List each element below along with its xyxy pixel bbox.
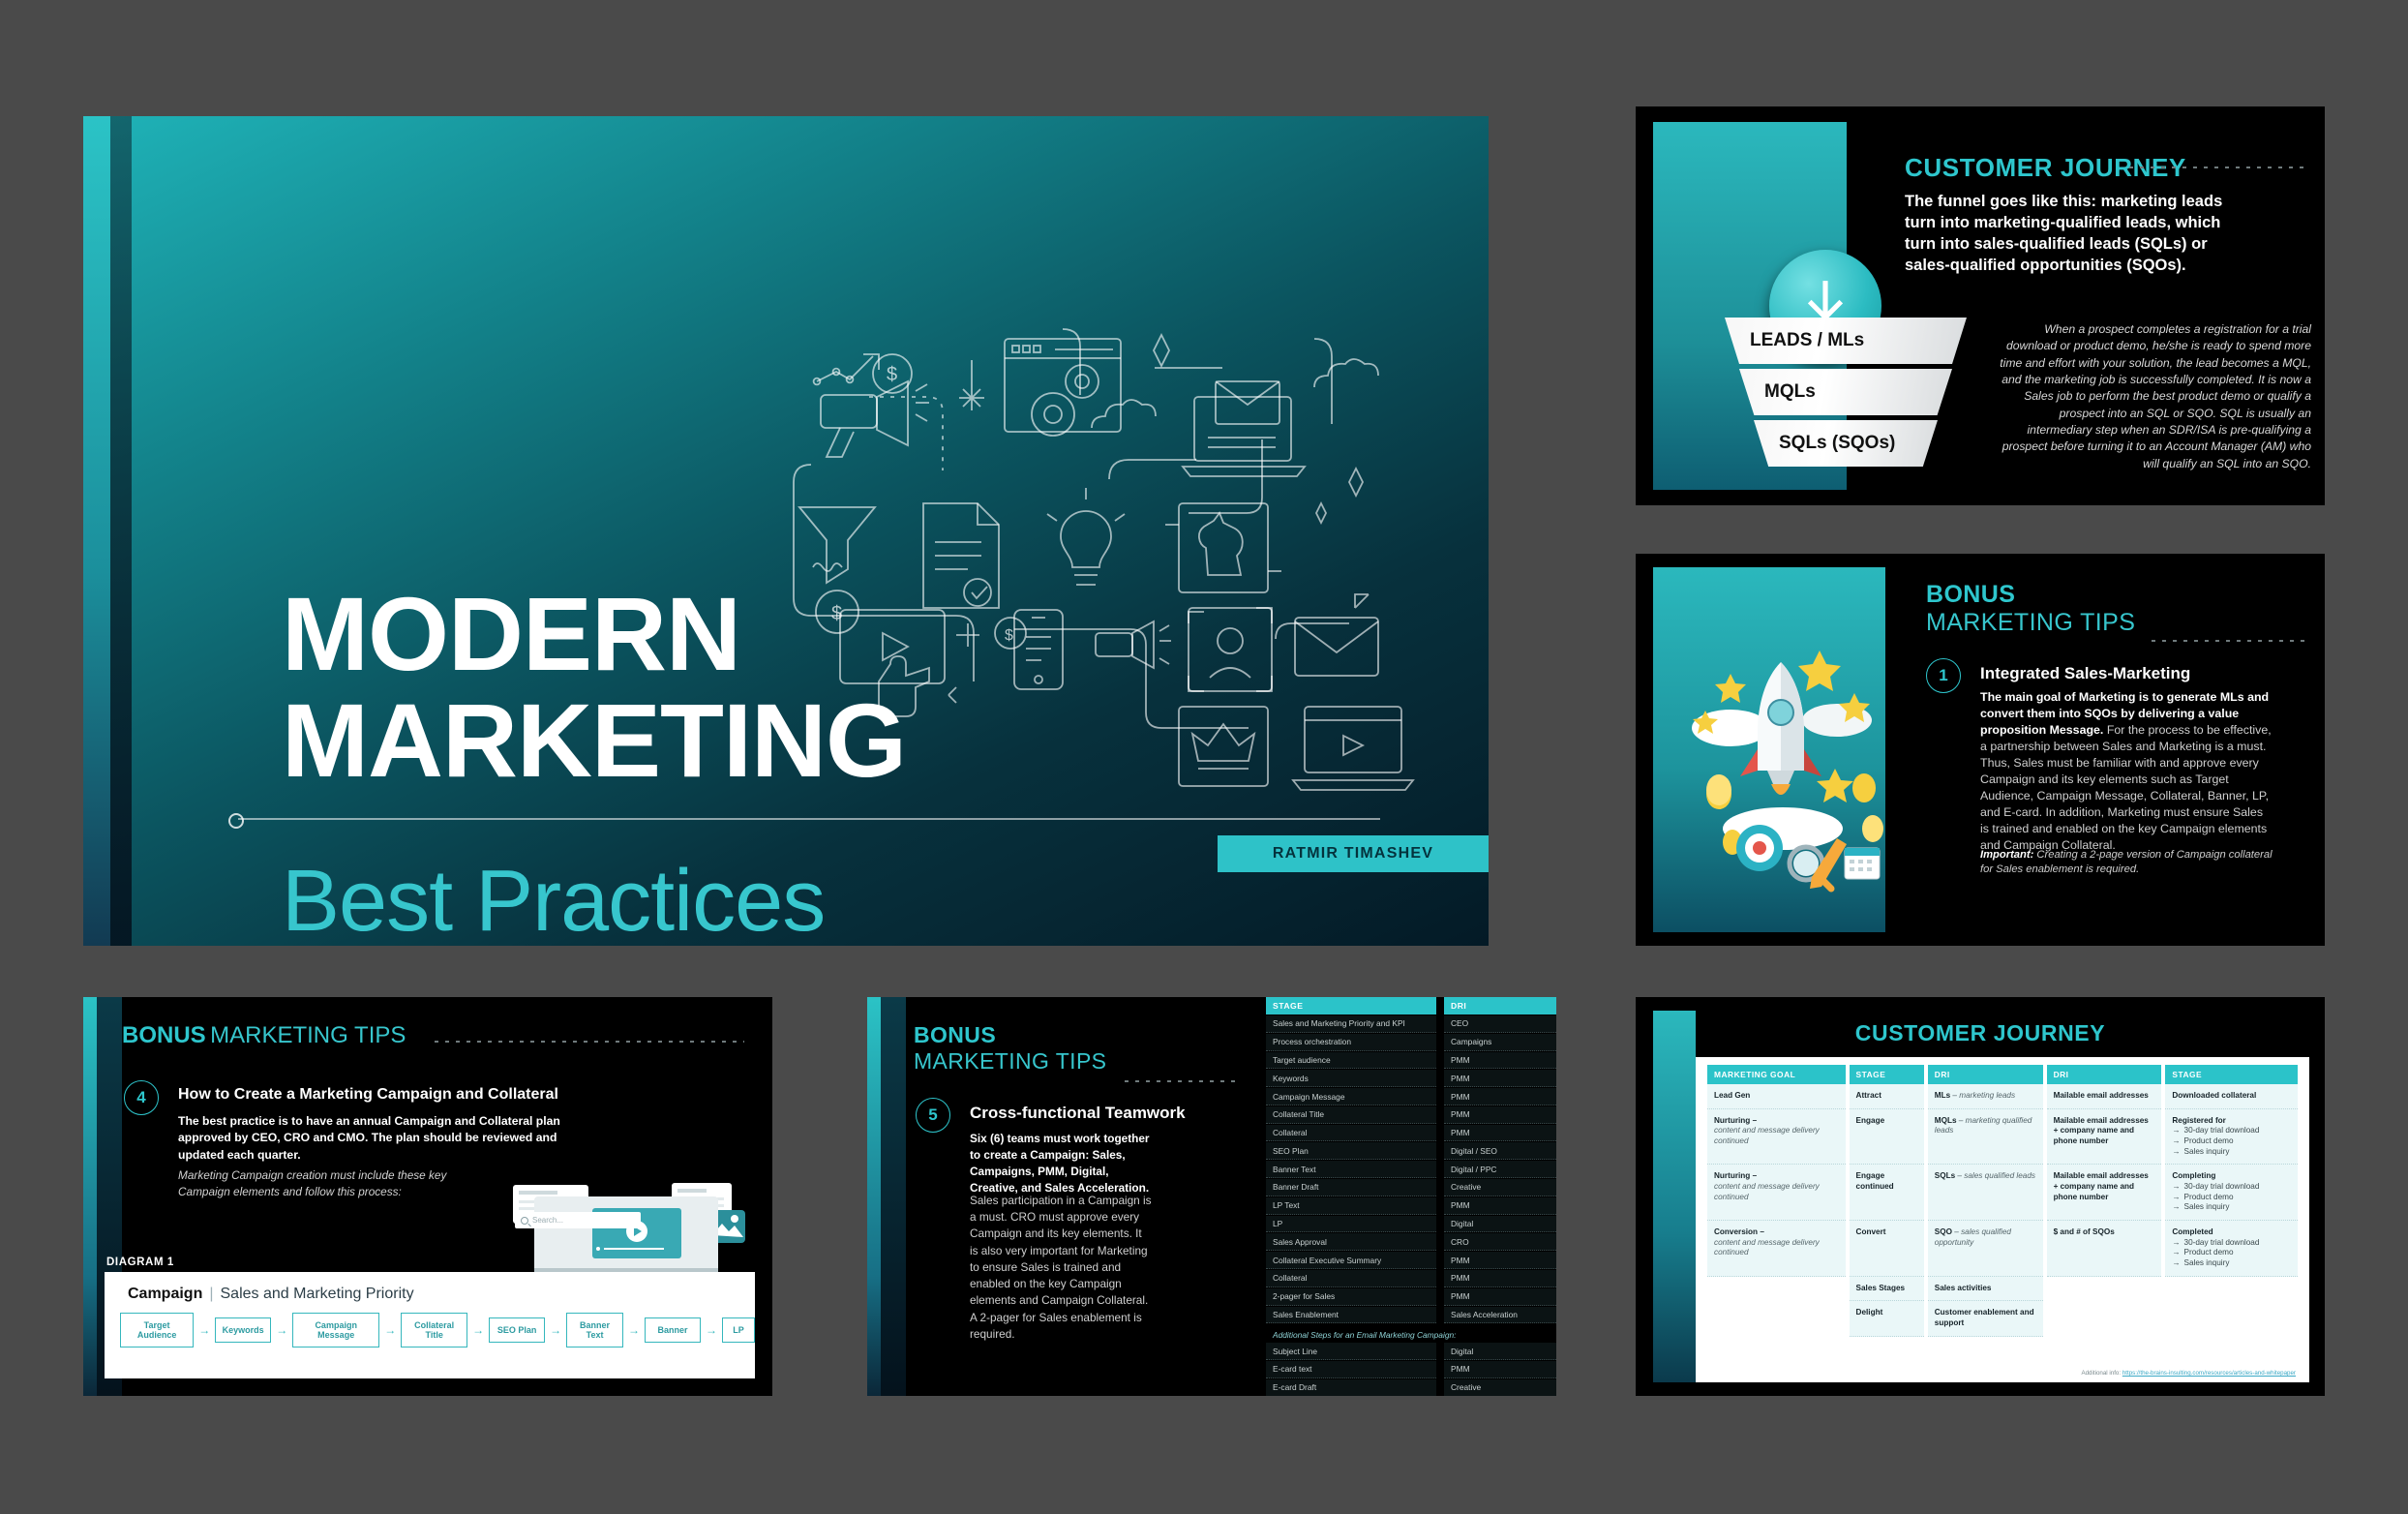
source-note: Additional info: https://the-brains-insu… [2081,1370,2296,1377]
source-link[interactable]: https://the-brains-insulting.com/resourc… [2122,1370,2296,1377]
cell-stage: SEO Plan [1266,1142,1436,1160]
bonus-subheading: MARKETING TIPS [210,1022,406,1048]
table-row: Lead GenAttractMLs – marketing leadsMail… [1707,1084,2298,1109]
table-header-row: MARKETING GOALSTAGEDRIDRISTAGE [1707,1065,2298,1084]
table-row: Nurturing –content and message delivery … [1707,1109,2298,1166]
flow-step: Collateral Title [401,1313,467,1347]
arrow-right-icon: → [194,1323,215,1337]
title-divider [238,818,1380,820]
source-label: Additional info: [2081,1370,2121,1377]
cell-dri: Customer enablement and support [1928,1301,2043,1336]
cell-stage: Collateral [1266,1125,1436,1142]
column-header: MARKETING GOAL [1707,1065,1846,1084]
cell-dri-detail [2047,1277,2162,1302]
tip-body-rest: Sales participation in a Campaign is a m… [970,1193,1152,1343]
cell-stage: Subject Line [1266,1343,1436,1360]
flow-step: Target Audience [120,1313,194,1347]
cell-dri: MLs – marketing leads [1928,1084,2043,1109]
cell-stage: Engage continued [1850,1165,1924,1221]
cell-stage: Sales Stages [1850,1277,1924,1302]
table-row: Sales EnablementSales Acceleration [1266,1307,1556,1324]
slide-left-accent-bar [83,116,110,946]
table-row: Sales and Marketing Priority and KPICEO [1266,1015,1556,1033]
search-icon [521,1217,528,1225]
bonus-kicker: BONUS [122,1022,206,1048]
cell-dri: MQLs – marketing qualified leads [1928,1109,2043,1166]
slide-heading: BONUS MARKETING TIPS [122,1022,406,1049]
bonus-subheading: MARKETING TIPS [914,1048,1106,1075]
funnel-stage: MQLs [1739,369,1952,415]
cell-stage: Collateral Executive Summary [1266,1252,1436,1269]
svg-text:$: $ [1005,627,1013,644]
arrow-right-icon: → [701,1323,722,1337]
tip-body: The best practice is to have an annual C… [178,1113,594,1164]
cell-dri: Creative [1444,1179,1556,1196]
cell-dri: Digital [1444,1343,1556,1360]
table-row: Conversion –content and message delivery… [1707,1221,2298,1277]
funnel-diagram: LEADS / MLs MQLs SQLs (SQOs) [1725,318,1967,471]
heading-dotted-rule [2129,167,2308,168]
tip-number-badge: 1 [1926,658,1961,693]
cell-dri: PMM [1444,1270,1556,1287]
tip-note: Marketing Campaign creation must include… [178,1167,459,1200]
slide-customer-journey-table[interactable]: CUSTOMER JOURNEY MARKETING GOALSTAGEDRID… [1636,997,2325,1396]
table-row: Collateral Executive SummaryPMM [1266,1252,1556,1269]
cell-stage: Delight [1850,1301,1924,1336]
column-header: DRI [1928,1065,2043,1084]
table-note: Additional Steps for an Email Marketing … [1266,1324,1556,1343]
presentation-canvas: $ [0,0,2408,1514]
table-body: Lead GenAttractMLs – marketing leadsMail… [1707,1084,2298,1337]
cell-stage: 2-pager for Sales [1266,1288,1436,1306]
page-title: MODERN MARKETING [282,581,906,794]
table-row: Sales StagesSales activities [1707,1277,2298,1302]
table-row: KeywordsPMM [1266,1070,1556,1087]
table-row: Collateral TitlePMM [1266,1106,1556,1124]
cell-dri-detail: Mailable email addresses + company name … [2047,1165,2162,1221]
cell-stage: Collateral [1266,1270,1436,1287]
table-row: CollateralPMM [1266,1270,1556,1287]
cell-stage: LP Text [1266,1197,1436,1215]
flow-step: Campaign Message [292,1313,379,1347]
slide-heading: CUSTOMER JOURNEY [1636,1020,2325,1046]
slide-heading: BONUS MARKETING TIPS [1926,581,2135,637]
diagram-title-bold: Campaign [128,1286,202,1303]
cell-dri: Sales Acceleration [1444,1307,1556,1324]
arrow-right-icon: → [545,1323,566,1337]
cell-dri: PMM [1444,1125,1556,1142]
cell-dri-detail: Mailable email addresses + company name … [2047,1109,2162,1166]
heading-dotted-rule [2152,640,2308,642]
tip-body-bold: Six (6) teams must work together to crea… [970,1131,1152,1196]
cell-stage-detail [2165,1301,2298,1336]
diagram-title-rest: Sales and Marketing Priority [221,1286,414,1303]
tip-heading: Integrated Sales-Marketing [1980,664,2190,683]
table-row: E-card textPMM [1266,1361,1556,1378]
table-row: Campaign MessagePMM [1266,1088,1556,1105]
arrow-right-icon: → [271,1323,292,1337]
tip-note: Important: Creating a 2-page version of … [1980,848,2273,877]
cell-stage: Engage [1850,1109,1924,1166]
tip-heading: How to Create a Marketing Campaign and C… [178,1086,558,1104]
cell-dri: Digital / PPC [1444,1161,1556,1178]
stage-dri-table: STAGE DRI Sales and Marketing Priority a… [1266,997,1556,1396]
slide-heading: BONUS MARKETING TIPS [914,1022,1106,1075]
slide-bonus-tip-4[interactable]: BONUS MARKETING TIPS 4 How to Create a M… [83,997,772,1396]
column-header: STAGE [2165,1065,2298,1084]
cell-marketing-goal [1707,1301,1846,1336]
table-row: Subject LineDigital [1266,1343,1556,1360]
arrow-right-icon: → [467,1323,489,1337]
cell-stage: E-card text [1266,1361,1436,1378]
cell-dri-detail [2047,1301,2162,1336]
cell-dri: Campaigns [1444,1034,1556,1051]
table-row: Target audiencePMM [1266,1052,1556,1070]
svg-text:$: $ [887,364,897,385]
tip-note-label: Important: [1980,849,2033,861]
cell-stage-detail: Completing→30-day trial download→Product… [2165,1165,2298,1221]
journey-table: MARKETING GOALSTAGEDRIDRISTAGE Lead GenA… [1703,1065,2302,1337]
author-badge: RATMIR TIMASHEV [1218,835,1489,872]
table-body: Sales and Marketing Priority and KPICEOP… [1266,1015,1556,1323]
table-row: LP TextPMM [1266,1197,1556,1215]
cell-dri: CRO [1444,1233,1556,1251]
table-row: Sales ApprovalCRO [1266,1233,1556,1251]
flow-step: Banner [645,1317,701,1343]
cell-stage: Sales Approval [1266,1233,1436,1251]
cell-stage: Keywords [1266,1070,1436,1087]
cell-stage: Target audience [1266,1052,1436,1070]
cell-dri: PMM [1444,1361,1556,1378]
search-placeholder: Search... [532,1216,563,1225]
column-header-dri: DRI [1444,997,1556,1014]
flow-row: Target Audience → Keywords → Campaign Me… [105,1303,755,1347]
cell-stage: Convert [1850,1221,1924,1277]
slide-left-shadow-bar [110,116,132,946]
cell-dri-detail: Mailable email addresses [2047,1084,2162,1109]
cell-stage: Banner Draft [1266,1179,1436,1196]
table-row: LPDigital [1266,1216,1556,1233]
title-subtitle: Best Practices [282,852,825,946]
column-header: STAGE [1850,1065,1924,1084]
diagram-title: Campaign | Sales and Marketing Priority [105,1272,755,1303]
slide-customer-journey-funnel[interactable]: CUSTOMER JOURNEY The funnel goes like th… [1636,106,2325,505]
table-row: Banner DraftCreative [1266,1179,1556,1196]
cell-dri: PMM [1444,1106,1556,1124]
funnel-lead-text: The funnel goes like this: marketing lea… [1905,192,2243,277]
cell-dri: Digital [1444,1216,1556,1233]
cell-stage: LP [1266,1216,1436,1233]
bonus-kicker: BONUS [1926,581,2135,609]
cell-stage: Sales Enablement [1266,1307,1436,1324]
cell-dri: SQO – sales qualified opportunity [1928,1221,2043,1277]
arrow-right-icon: → [623,1323,645,1337]
column-header-stage: STAGE [1266,997,1436,1014]
flow-step: Keywords [215,1317,271,1343]
flow-step: Banner Text [566,1313,623,1347]
table-header-row: STAGE DRI [1266,997,1556,1014]
cell-dri: Creative [1444,1379,1556,1396]
table-row: SEO PlanDigital / SEO [1266,1142,1556,1160]
funnel-stage: LEADS / MLs [1725,318,1967,364]
tip-number-badge: 5 [916,1098,950,1133]
funnel-stage: SQLs (SQOs) [1754,420,1938,467]
cell-stage: Banner Text [1266,1161,1436,1178]
cell-stage-detail: Completed→30-day trial download→Product … [2165,1221,2298,1277]
cell-dri: PMM [1444,1070,1556,1087]
cell-stage-detail: Downloaded collateral [2165,1084,2298,1109]
tip-heading: Cross-functional Teamwork [970,1104,1186,1123]
title-line-1: MODERN [282,581,906,687]
diagram-title-separator: | [209,1286,213,1303]
rocket-illustration [1674,604,1887,894]
heading-dotted-rule [1125,1080,1241,1082]
cell-stage: Collateral Title [1266,1106,1436,1124]
table-row: CollateralPMM [1266,1125,1556,1142]
cell-stage-detail: Registered for→30-day trial download→Pro… [2165,1109,2298,1166]
teal-side-panel [1653,1011,1696,1382]
cell-marketing-goal: Nurturing –content and message delivery … [1707,1165,1846,1221]
cell-marketing-goal: Conversion –content and message delivery… [1707,1221,1846,1277]
search-input[interactable]: Search... [515,1212,641,1228]
flow-step: LP [722,1317,755,1343]
diagram-label: DIAGRAM 1 [106,1257,174,1268]
slide-left-shadow-bar [881,997,906,1396]
cell-stage: Attract [1850,1084,1924,1109]
title-line-2: MARKETING [282,687,906,794]
cell-marketing-goal [1707,1277,1846,1302]
cell-stage-detail [2165,1277,2298,1302]
tip-number-badge: 4 [124,1080,159,1115]
table-row: Nurturing –content and message delivery … [1707,1165,2298,1221]
arrow-right-icon: → [379,1323,401,1337]
table-row: Banner TextDigital / PPC [1266,1161,1556,1178]
cell-dri: PMM [1444,1252,1556,1269]
cell-dri: PMM [1444,1052,1556,1070]
cell-marketing-goal: Nurturing –content and message delivery … [1707,1109,1846,1166]
bonus-kicker: BONUS [914,1022,1106,1048]
cell-dri: SQLs – sales qualified leads [1928,1165,2043,1221]
cell-stage: Sales and Marketing Priority and KPI [1266,1015,1436,1033]
cell-stage: E-card Draft [1266,1379,1436,1396]
table-row: E-card DraftCreative [1266,1379,1556,1396]
column-header: DRI [2047,1065,2162,1084]
funnel-body-text: When a prospect completes a registration… [1992,321,2311,472]
cell-dri: Sales activities [1928,1277,2043,1302]
slide-left-accent-bar [83,997,97,1396]
bonus-subheading: MARKETING TIPS [1926,609,2135,637]
campaign-flow-diagram: Campaign | Sales and Marketing Priority … [105,1272,755,1378]
flow-step: SEO Plan [489,1317,545,1343]
slide-bonus-tip-5[interactable]: BONUS MARKETING TIPS 5 Cross-functional … [867,997,1556,1396]
journey-table-card: MARKETING GOALSTAGEDRIDRISTAGE Lead GenA… [1696,1057,2309,1382]
cell-stage: Campaign Message [1266,1088,1436,1105]
heading-dotted-rule [435,1041,744,1043]
cell-dri: PMM [1444,1197,1556,1215]
cell-marketing-goal: Lead Gen [1707,1084,1846,1109]
slide-left-accent-bar [867,997,881,1396]
cell-dri: PMM [1444,1088,1556,1105]
table-extra-body: Subject LineDigitalE-card textPMME-card … [1266,1343,1556,1396]
table-row: Process orchestrationCampaigns [1266,1034,1556,1051]
table-row: 2-pager for SalesPMM [1266,1288,1556,1306]
table-row: DelightCustomer enablement and support [1707,1301,2298,1336]
cell-stage: Process orchestration [1266,1034,1436,1051]
tip-body: The main goal of Marketing is to generat… [1980,689,2273,854]
cell-dri: Digital / SEO [1444,1142,1556,1160]
cell-dri: PMM [1444,1288,1556,1306]
tip-body-rest: For the process to be effective, a partn… [1980,723,2272,852]
slide-bonus-tip-1[interactable]: BONUS MARKETING TIPS 1 Integrated Sales-… [1636,554,2325,946]
slide-title[interactable]: $ [83,116,1489,946]
cell-dri: CEO [1444,1015,1556,1033]
cell-dri-detail: $ and # of SQOs [2047,1221,2162,1277]
